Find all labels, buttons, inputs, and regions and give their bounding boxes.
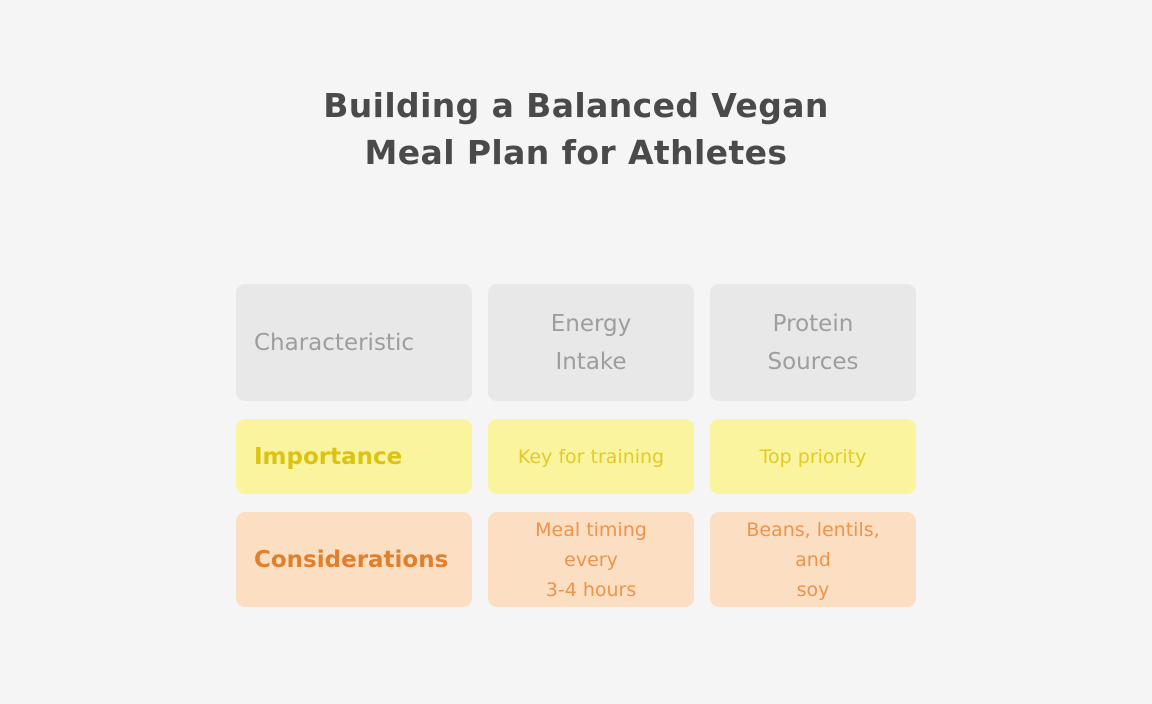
table-cell-text: Top priority	[760, 442, 867, 472]
table-cell-importance-energy-intake: Key for training	[488, 419, 694, 494]
table-cell-considerations-protein-sources: Beans, lentils, and soy	[710, 512, 916, 607]
table-row-label-importance: Importance	[236, 419, 472, 494]
table-cell-text: Meal timing every 3-4 hours	[506, 515, 676, 605]
page-title-line-2: Meal Plan for Athletes	[0, 129, 1152, 176]
slide-canvas: Building a Balanced Vegan Meal Plan for …	[0, 0, 1152, 704]
table-cell-text: Considerations	[254, 545, 448, 575]
page-title-line-1: Building a Balanced Vegan	[0, 82, 1152, 129]
table-row-label-considerations: Considerations	[236, 512, 472, 607]
comparison-table: Characteristic Energy Intake Protein Sou…	[236, 284, 914, 607]
table-cell-text: Key for training	[518, 442, 664, 472]
table-header-label: Energy Intake	[551, 305, 632, 381]
table-cell-text: Beans, lentils, and soy	[728, 515, 898, 605]
table-header-label: Protein Sources	[768, 305, 859, 381]
table-cell-text: Importance	[254, 442, 402, 472]
table-row-considerations: Considerations Meal timing every 3-4 hou…	[236, 512, 914, 607]
table-row-importance: Importance Key for training Top priority	[236, 419, 914, 494]
table-header-row: Characteristic Energy Intake Protein Sou…	[236, 284, 914, 401]
table-cell-importance-protein-sources: Top priority	[710, 419, 916, 494]
table-header-cell-protein-sources: Protein Sources	[710, 284, 916, 401]
table-header-cell-energy-intake: Energy Intake	[488, 284, 694, 401]
table-cell-considerations-energy-intake: Meal timing every 3-4 hours	[488, 512, 694, 607]
page-title: Building a Balanced Vegan Meal Plan for …	[0, 82, 1152, 176]
table-header-label: Characteristic	[254, 324, 414, 362]
table-header-cell-characteristic: Characteristic	[236, 284, 472, 401]
